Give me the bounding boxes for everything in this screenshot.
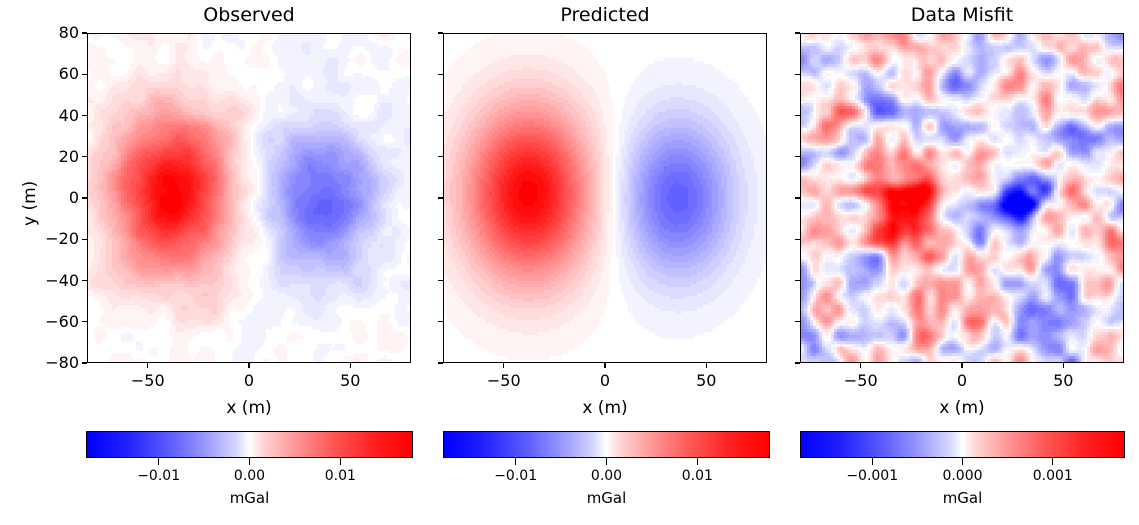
colorbar-tick-mark	[962, 458, 963, 465]
colorbar-tick-label: 0.001	[1003, 469, 1103, 483]
x-tick-mark	[1063, 363, 1064, 368]
x-axis-label: x (m)	[800, 400, 1124, 417]
y-tick-mark	[795, 362, 800, 363]
figure-canvas: Observed−80−60−40−20020406080−50050x (m)…	[0, 0, 1139, 525]
colorbar	[800, 431, 1125, 458]
y-tick-mark	[795, 156, 800, 157]
y-tick-mark	[795, 280, 800, 281]
colorbar-tick-label: 0.000	[913, 469, 1013, 483]
y-tick-mark	[795, 74, 800, 75]
colorbar-tick-label: −0.001	[822, 469, 922, 483]
colorbar-tick-mark	[872, 458, 873, 465]
x-tick-mark	[961, 363, 962, 368]
panel-title: Data Misfit	[800, 6, 1124, 25]
x-tick-label: 50	[1023, 373, 1103, 389]
y-tick-mark	[795, 115, 800, 116]
panel-data-misfit: Data Misfit−50050x (m)−0.0010.0000.001mG…	[0, 0, 1139, 525]
x-tick-label: −50	[821, 373, 901, 389]
colorbar-tick-mark	[1052, 458, 1053, 465]
y-tick-mark	[795, 321, 800, 322]
plot-area	[800, 33, 1124, 363]
x-tick-label: 0	[922, 373, 1002, 389]
colorbar-unit-label: mGal	[800, 491, 1125, 506]
y-tick-mark	[795, 239, 800, 240]
y-tick-mark	[795, 197, 800, 198]
x-tick-mark	[860, 363, 861, 368]
colorbar-gradient	[801, 432, 1124, 457]
y-tick-mark	[795, 32, 800, 33]
